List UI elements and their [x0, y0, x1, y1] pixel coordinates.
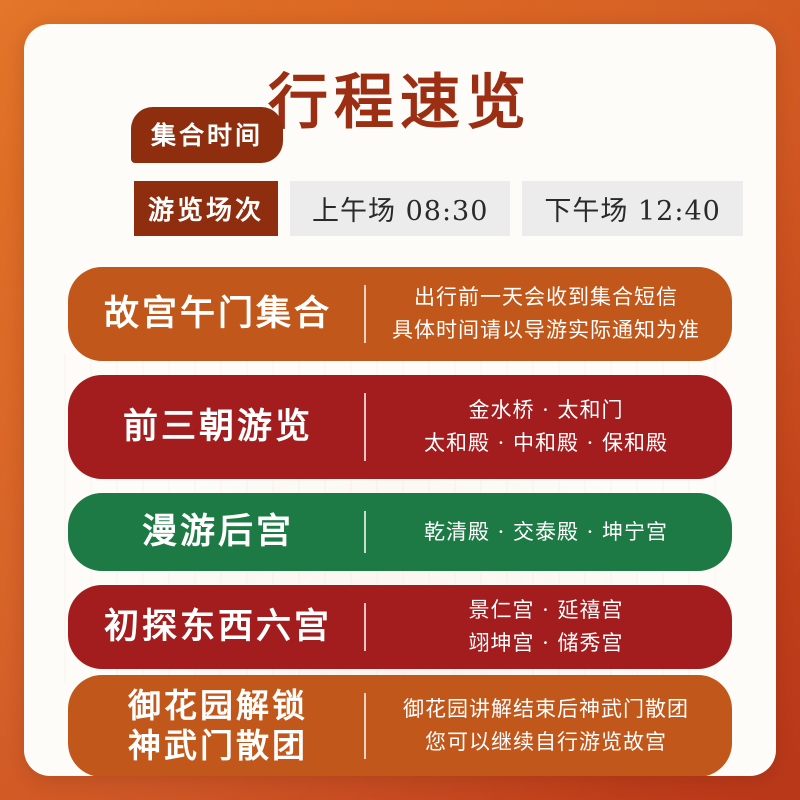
- itinerary-stage: 初探东西六宫: [68, 606, 364, 649]
- itinerary-detail: 御花园讲解结束后神武门散团 您可以继续自行游览故宫: [366, 693, 726, 758]
- session-slot-afternoon[interactable]: 下午场 12:40: [522, 181, 742, 236]
- itinerary-stage: 故宫午门集合: [68, 293, 364, 336]
- session-label: 游览场次: [134, 181, 278, 236]
- itinerary-stage: 御花园解锁 神武门散团: [68, 686, 364, 767]
- itinerary-stage: 前三朝游览: [68, 406, 364, 449]
- itinerary-stage: 漫游后宫: [68, 511, 364, 554]
- itinerary-item: 初探东西六宫 景仁宫 · 延禧宫 翊坤宫 · 储秀宫: [68, 585, 732, 669]
- itinerary-item: 御花园解锁 神武门散团 御花园讲解结束后神武门散团 您可以继续自行游览故宫: [68, 675, 732, 776]
- itinerary-detail: 乾清殿 · 交泰殿 · 坤宁宫: [366, 516, 726, 549]
- session-row: 游览场次 上午场 08:30 下午场 12:40: [134, 181, 743, 236]
- poster-card: 故宫博物院 行程速览 集合时间 游览场次 上午场 08:30 下午场 12:40…: [24, 24, 776, 776]
- itinerary-detail: 景仁宫 · 延禧宫 翊坤宫 · 储秀宫: [366, 594, 726, 659]
- itinerary-detail: 出行前一天会收到集合短信 具体时间请以导游实际通知为准: [366, 281, 726, 346]
- itinerary-item: 漫游后宫 乾清殿 · 交泰殿 · 坤宁宫: [68, 493, 732, 571]
- meet-time-tag: 集合时间: [131, 107, 283, 163]
- itinerary-item: 前三朝游览 金水桥 · 太和门 太和殿 · 中和殿 · 保和殿: [68, 375, 732, 479]
- itinerary-detail: 金水桥 · 太和门 太和殿 · 中和殿 · 保和殿: [366, 394, 726, 459]
- itinerary-item: 故宫午门集合 出行前一天会收到集合短信 具体时间请以导游实际通知为准: [68, 267, 732, 361]
- poster-background: 故宫博物院 行程速览 集合时间 游览场次 上午场 08:30 下午场 12:40…: [0, 0, 800, 800]
- session-slot-morning[interactable]: 上午场 08:30: [290, 181, 510, 236]
